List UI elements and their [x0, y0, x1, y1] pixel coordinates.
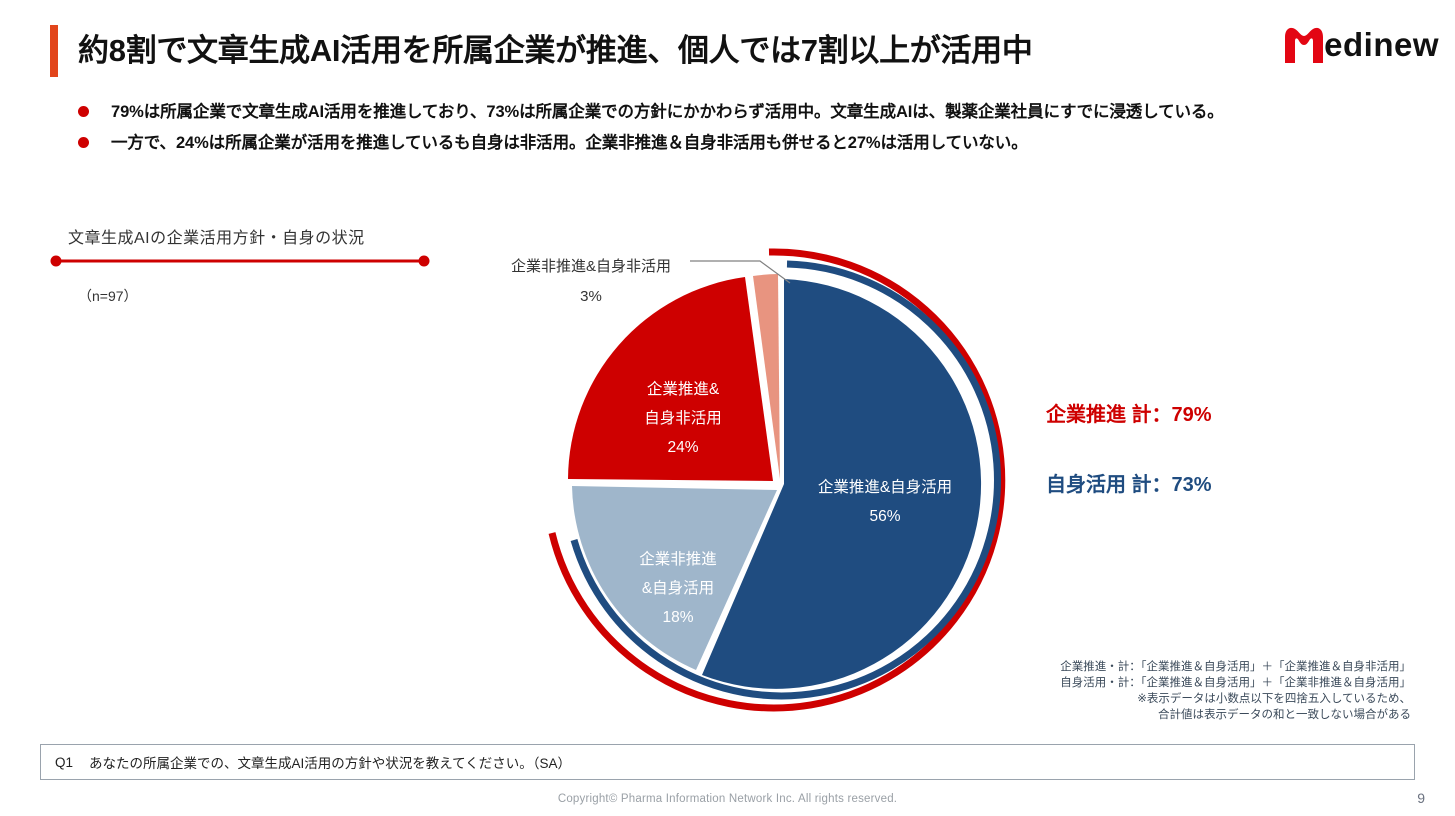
bullet-dot-icon — [78, 106, 89, 117]
page-title: 約8割で文章生成AI活用を所属企業が推進、個人では7割以上が活用中 — [78, 26, 1258, 76]
bullet-item: 79%は所属企業で文章生成AI活用を推進しており、73%は所属企業での方針にかか… — [78, 100, 1398, 125]
section-rule-divider — [50, 255, 430, 267]
brand-logo: edinew — [1281, 22, 1439, 68]
footnote-line: ※表示データは小数点以下を四捨五入しているため、 — [1060, 691, 1411, 707]
m-logo-icon — [1281, 25, 1327, 65]
footnote-line: 合計値は表示データの和と一致しない場合がある — [1060, 707, 1411, 723]
total-self-use: 自身活用 計：73% — [1046, 468, 1212, 497]
question-number: Q1 — [55, 755, 73, 770]
question-text: あなたの所属企業での、文章生成AI活用の方針や状況を教えてください。（SA） — [89, 752, 571, 772]
title-accent-bar — [50, 25, 58, 77]
callout-small-slice: 企業非推進&自身非活用 3% — [486, 252, 696, 312]
bullet-dot-icon — [78, 137, 89, 148]
copyright-text: Copyright© Pharma Information Network In… — [0, 793, 1455, 805]
bullet-text: 一方で、24%は所属企業が活用を推進しているも自身は非活用。企業非推進＆自身非活… — [111, 131, 1028, 156]
callout-value: 3% — [486, 282, 696, 312]
slide: 約8割で文章生成AI活用を所属企業が推進、個人では7割以上が活用中 edinew… — [0, 0, 1455, 816]
chart-section-label: 文章生成AIの企業活用方針・自身の状況 — [68, 224, 365, 248]
bullet-item: 一方で、24%は所属企業が活用を推進しているも自身は非活用。企業非推進＆自身非活… — [78, 131, 1398, 156]
footnote-line: 企業推進・計：「企業推進＆自身活用」＋「企業推進＆自身非活用」 — [1060, 659, 1411, 675]
footnote-line: 自身活用・計：「企業推進＆自身活用」＋「企業非推進＆自身活用」 — [1060, 675, 1411, 691]
bullet-list: 79%は所属企業で文章生成AI活用を推進しており、73%は所属企業での方針にかか… — [78, 100, 1398, 162]
total-company-promote: 企業推進 計：79% — [1046, 398, 1212, 427]
question-bar: Q1 あなたの所属企業での、文章生成AI活用の方針や状況を教えてください。（SA… — [40, 744, 1415, 780]
sample-size-label: （n=97） — [78, 286, 138, 306]
page-number: 9 — [1417, 790, 1425, 806]
callout-label: 企業非推進&自身非活用 — [511, 258, 671, 275]
chart-footnote: 企業推進・計：「企業推進＆自身活用」＋「企業推進＆自身非活用」 自身活用・計：「… — [1060, 659, 1411, 723]
pie-chart — [470, 245, 1050, 745]
pie-chart-svg — [470, 245, 1050, 745]
bullet-text: 79%は所属企業で文章生成AI活用を推進しており、73%は所属企業での方針にかか… — [111, 100, 1224, 125]
logo-text: edinew — [1324, 28, 1439, 62]
